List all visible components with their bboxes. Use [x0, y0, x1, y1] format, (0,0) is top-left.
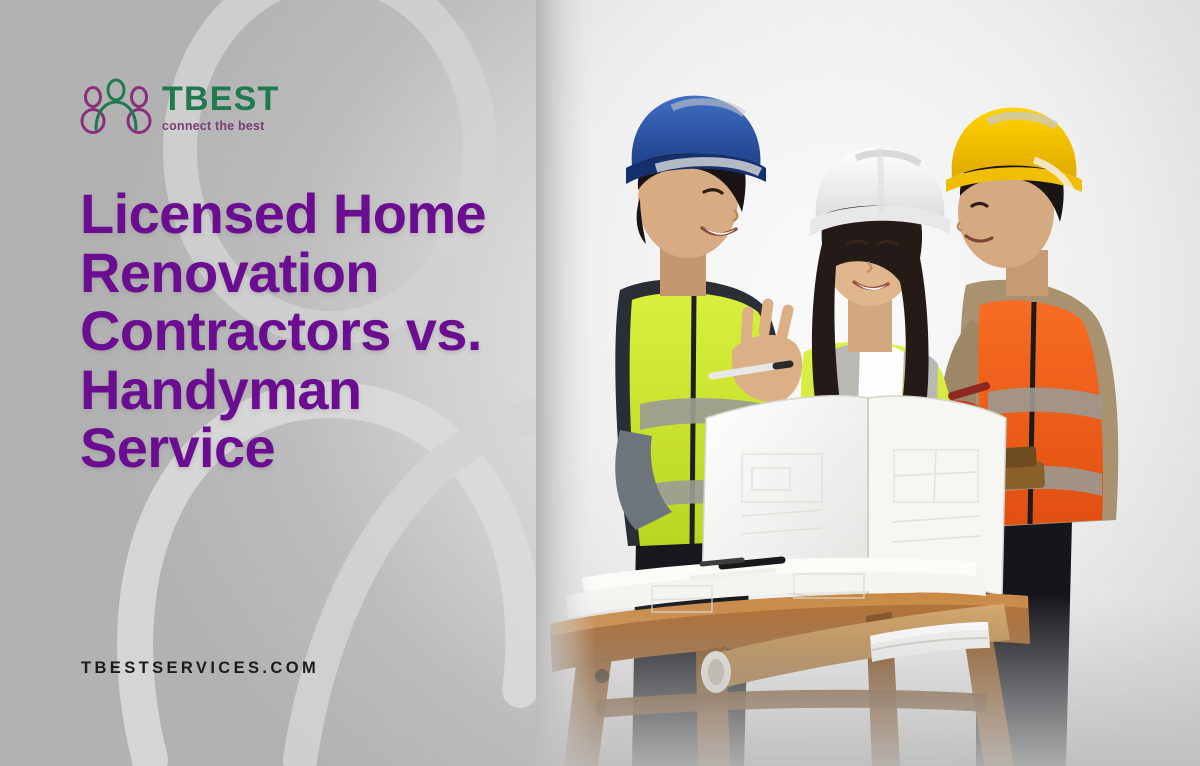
- headline-line-4: Handyman: [80, 361, 640, 420]
- three-people-icon: [80, 78, 152, 134]
- logo-wordmark: TBEST: [162, 82, 279, 116]
- headline-line-1: Licensed Home: [80, 185, 640, 244]
- headline-line-3: Contractors vs.: [80, 302, 640, 361]
- banner-canvas: TBEST connect the best Licensed Home Ren…: [0, 0, 1200, 766]
- logo-tagline: connect the best: [162, 120, 279, 133]
- brand-logo[interactable]: TBEST connect the best: [80, 78, 279, 134]
- headline-line-2: Renovation: [80, 244, 640, 303]
- page-title: Licensed Home Renovation Contractors vs.…: [80, 185, 640, 478]
- site-url[interactable]: TBESTSERVICES.COM: [81, 659, 319, 678]
- headline-line-5: Service: [80, 419, 640, 478]
